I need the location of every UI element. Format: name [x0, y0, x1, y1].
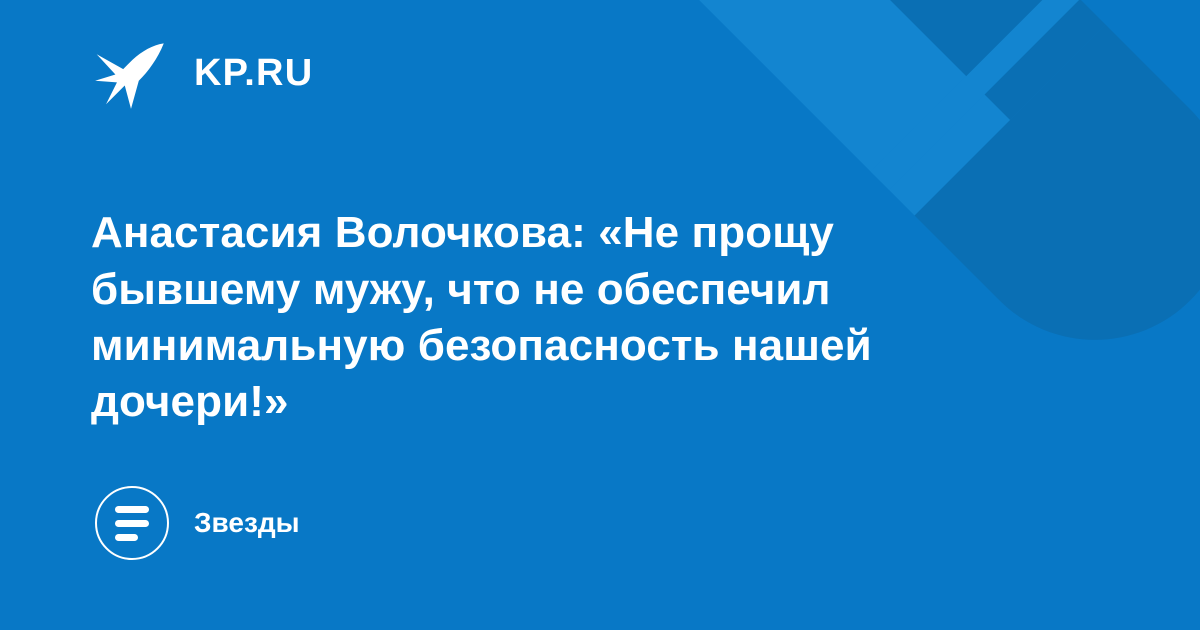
site-logo[interactable]: KP.RU [92, 34, 313, 112]
page-title: Анастасия Волочкова: «Не прощу бывшему м… [91, 205, 991, 430]
hamburger-menu-icon[interactable] [95, 486, 169, 560]
rubric-label: Звезды [194, 509, 300, 537]
menu-bar-bottom [115, 534, 138, 541]
social-share-card: KP.RU Анастасия Волочкова: «Не прощу быв… [0, 0, 1200, 630]
menu-bar-middle [115, 520, 149, 527]
kp-swallow-bird-icon [92, 34, 170, 112]
menu-bar-top [115, 506, 149, 513]
rubric-link[interactable]: Звезды [95, 486, 300, 560]
logo-wordmark: KP.RU [194, 54, 313, 92]
